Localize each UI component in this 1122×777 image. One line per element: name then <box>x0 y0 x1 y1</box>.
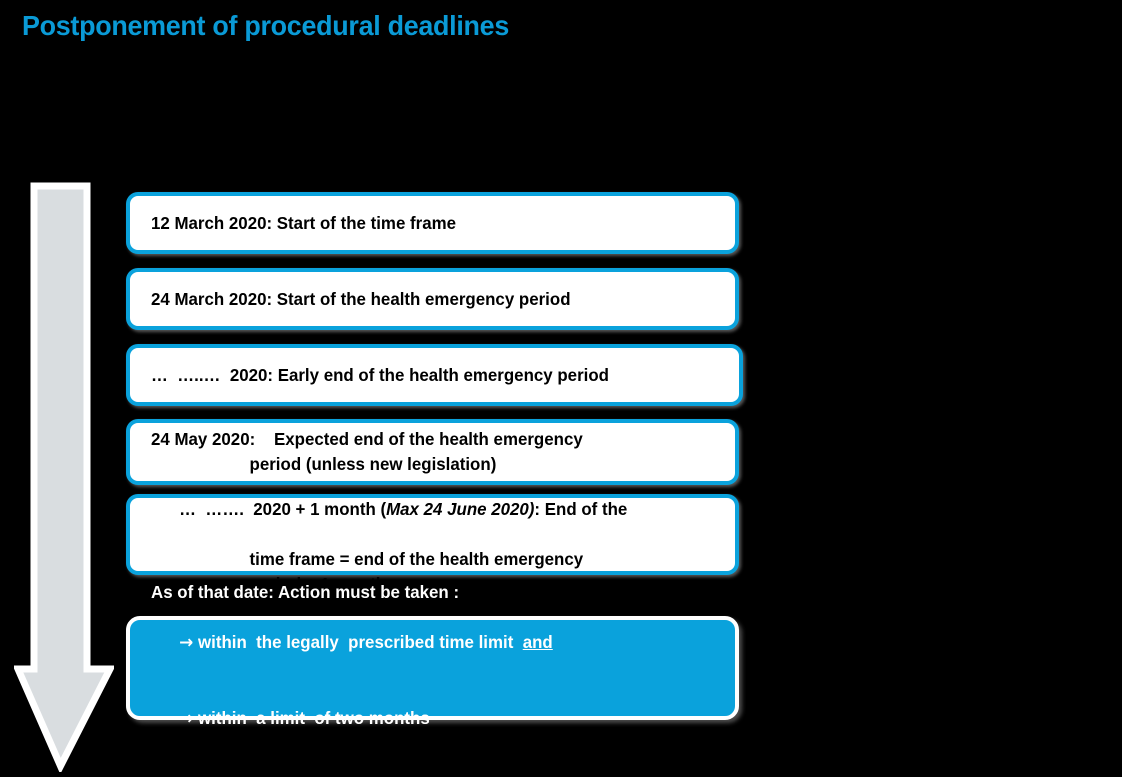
right-arrow-icon: → <box>179 633 193 653</box>
timeline-event-line: 24 March 2020: Start of the health emerg… <box>151 287 705 312</box>
action-callout-box: As of that date: Action must be taken : … <box>126 616 739 720</box>
timeline-event-line-part: … ……. 2020 + 1 month ( <box>179 499 386 519</box>
page-title: Postponement of procedural deadlines <box>22 10 509 42</box>
timeline-event-box-2: 24 March 2020: Start of the health emerg… <box>126 268 739 330</box>
timeline-event-line: time frame = end of the health emergency <box>151 547 705 572</box>
timeline-event-line-emphasis: Max 24 June 2020) <box>386 499 534 519</box>
timeline-event-content-1: 12 March 2020: Start of the time frame <box>130 211 735 236</box>
action-callout-bullet-1: → within the legally prescribed time lim… <box>151 605 705 681</box>
downward-timeline-arrow <box>14 182 114 772</box>
timeline-event-box-1: 12 March 2020: Start of the time frame <box>126 192 739 254</box>
timeline-event-line: … …..… 2020: Early end of the health eme… <box>151 363 709 388</box>
action-callout-bullet-emphasis: and <box>523 632 553 652</box>
timeline-event-line: … ……. 2020 + 1 month (Max 24 June 2020):… <box>151 472 705 547</box>
timeline-event-box-3: … …..… 2020: Early end of the health eme… <box>126 344 743 406</box>
timeline-event-box-5: … ……. 2020 + 1 month (Max 24 June 2020):… <box>126 494 739 575</box>
timeline-event-line: 12 March 2020: Start of the time frame <box>151 211 705 236</box>
action-callout-heading: As of that date: Action must be taken : <box>151 580 705 605</box>
right-arrow-icon: → <box>179 709 193 729</box>
action-callout-bullet-text: within a limit of two months <box>198 708 430 728</box>
timeline-event-line: 24 May 2020: Expected end of the health … <box>151 427 705 452</box>
down-arrow-icon <box>14 182 114 772</box>
action-callout-bullet-2: → within a limit of two months <box>151 681 705 757</box>
timeline-event-content-5: … ……. 2020 + 1 month (Max 24 June 2020):… <box>130 472 735 597</box>
timeline-event-content-3: … …..… 2020: Early end of the health eme… <box>130 363 739 388</box>
timeline-event-content-2: 24 March 2020: Start of the health emerg… <box>130 287 735 312</box>
action-callout-bullet-text: within the legally prescribed time limit <box>198 632 523 652</box>
timeline-event-line-part: : End of the <box>534 499 627 519</box>
action-callout-content: As of that date: Action must be taken : … <box>130 580 735 757</box>
timeline-event-content-4: 24 May 2020: Expected end of the health … <box>130 427 735 477</box>
